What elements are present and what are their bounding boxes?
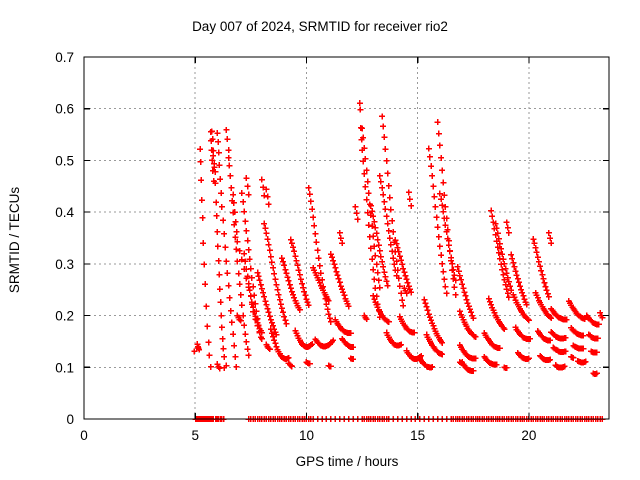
y-tick-label: 0.6: [55, 102, 74, 117]
x-tick-label: 5: [191, 428, 199, 443]
tick-marks: [84, 57, 609, 419]
y-axis-label: SRMTID / TECUs: [7, 187, 22, 294]
y-tick-label: 0.1: [55, 360, 74, 375]
y-tick-label: 0.2: [55, 309, 74, 324]
x-tick-label: 10: [299, 428, 314, 443]
y-tick-label: 0: [66, 412, 74, 427]
page-title: Day 007 of 2024, SRMTID for receiver rio…: [192, 19, 448, 34]
scatter-plot: 00.10.20.30.40.50.60.705101520 Day 007 o…: [0, 0, 640, 480]
x-tick-label: 20: [521, 428, 536, 443]
plot-frame: [84, 57, 609, 419]
chart-container: 00.10.20.30.40.50.60.705101520 Day 007 o…: [0, 0, 640, 480]
x-axis-label: GPS time / hours: [296, 454, 399, 469]
y-tick-label: 0.7: [55, 50, 74, 65]
data-points-layer: [191, 100, 605, 422]
y-tick-label: 0.5: [55, 153, 74, 168]
y-tick-label: 0.4: [55, 205, 74, 220]
y-tick-label: 0.3: [55, 257, 74, 272]
x-tick-label: 0: [80, 428, 88, 443]
grid-lines: [84, 57, 609, 419]
x-tick-label: 15: [410, 428, 425, 443]
